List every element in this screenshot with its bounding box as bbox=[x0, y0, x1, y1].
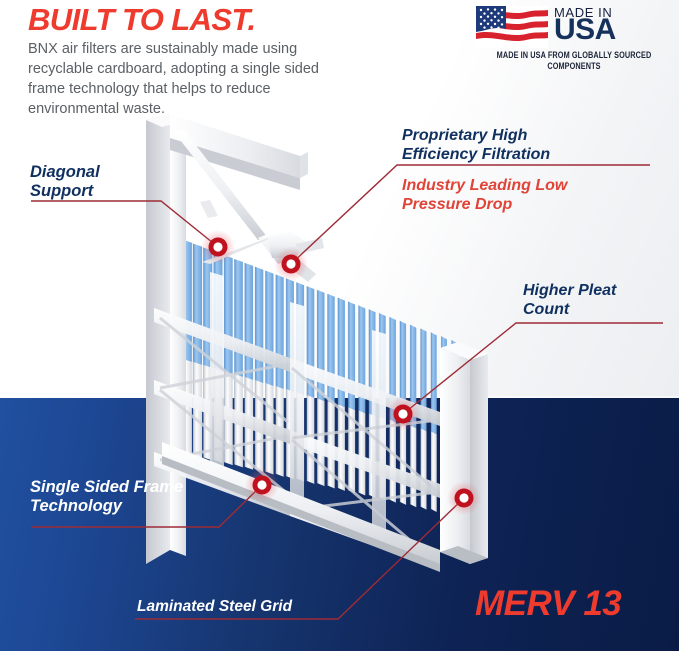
callout-higher-pleat-count-line1: Higher Pleat bbox=[523, 281, 616, 300]
badge-disclaimer: MADE IN USA FROM GLOBALLY SOURCED COMPON… bbox=[476, 49, 672, 72]
header-description: BNX air filters are sustainably made usi… bbox=[28, 39, 358, 119]
grid-node-upper bbox=[268, 230, 324, 282]
pleat-fin-blue bbox=[234, 259, 242, 377]
infographic-canvas: BUILT TO LAST. BNX air filters are susta… bbox=[0, 0, 679, 651]
pleat-fin-white bbox=[390, 419, 396, 502]
badge-usa-label: USA bbox=[554, 15, 616, 45]
callout-low-pressure-drop: Industry Leading Low Pressure Drop bbox=[402, 176, 567, 214]
pleat-fin-blue bbox=[276, 274, 284, 389]
callout-diagonal-support-line1: Diagonal bbox=[30, 163, 100, 182]
callout-proprietary-filtration-line1: Proprietary High bbox=[402, 126, 550, 145]
page-title: BUILT TO LAST. bbox=[28, 2, 256, 38]
callout-single-sided-frame-line2: Technology bbox=[30, 497, 183, 516]
callout-proprietary-filtration-line2: Efficiency Filtration bbox=[402, 145, 550, 164]
pleat-fin-blue bbox=[255, 267, 263, 383]
pleat-fin-white bbox=[431, 431, 437, 512]
callout-higher-pleat-count: Higher Pleat Count bbox=[523, 281, 616, 319]
pleat-fin-blue bbox=[317, 290, 324, 401]
pleat-fin-white bbox=[421, 428, 427, 509]
callout-low-pressure-drop-line1: Industry Leading Low bbox=[402, 176, 567, 195]
callout-diagonal-support: Diagonal Support bbox=[30, 163, 100, 201]
pleat-fin-blue bbox=[224, 255, 233, 374]
pleat-fin-white bbox=[338, 404, 345, 491]
merv-rating-label: MERV 13 bbox=[475, 584, 621, 624]
callout-single-sided-frame: Single Sided Frame Technology bbox=[30, 478, 183, 516]
callout-higher-pleat-count-line2: Count bbox=[523, 300, 616, 319]
callout-diagonal-support-line2: Support bbox=[30, 182, 100, 201]
callout-laminated-steel-grid: Laminated Steel Grid bbox=[137, 597, 292, 616]
callout-low-pressure-drop-line2: Pressure Drop bbox=[402, 195, 567, 214]
pleat-fin-blue bbox=[245, 263, 253, 380]
frame-right-endcap bbox=[440, 342, 488, 564]
us-flag-icon bbox=[476, 6, 548, 48]
pleat-fin-white bbox=[359, 410, 366, 495]
callout-proprietary-filtration: Proprietary High Efficiency Filtration bbox=[402, 126, 550, 164]
callout-single-sided-frame-line1: Single Sided Frame bbox=[30, 478, 183, 497]
made-in-usa-badge: MADE IN USA MADE IN USA FROM GLOBALLY SO… bbox=[476, 4, 672, 60]
callout-laminated-steel-grid-line1: Laminated Steel Grid bbox=[137, 597, 292, 616]
